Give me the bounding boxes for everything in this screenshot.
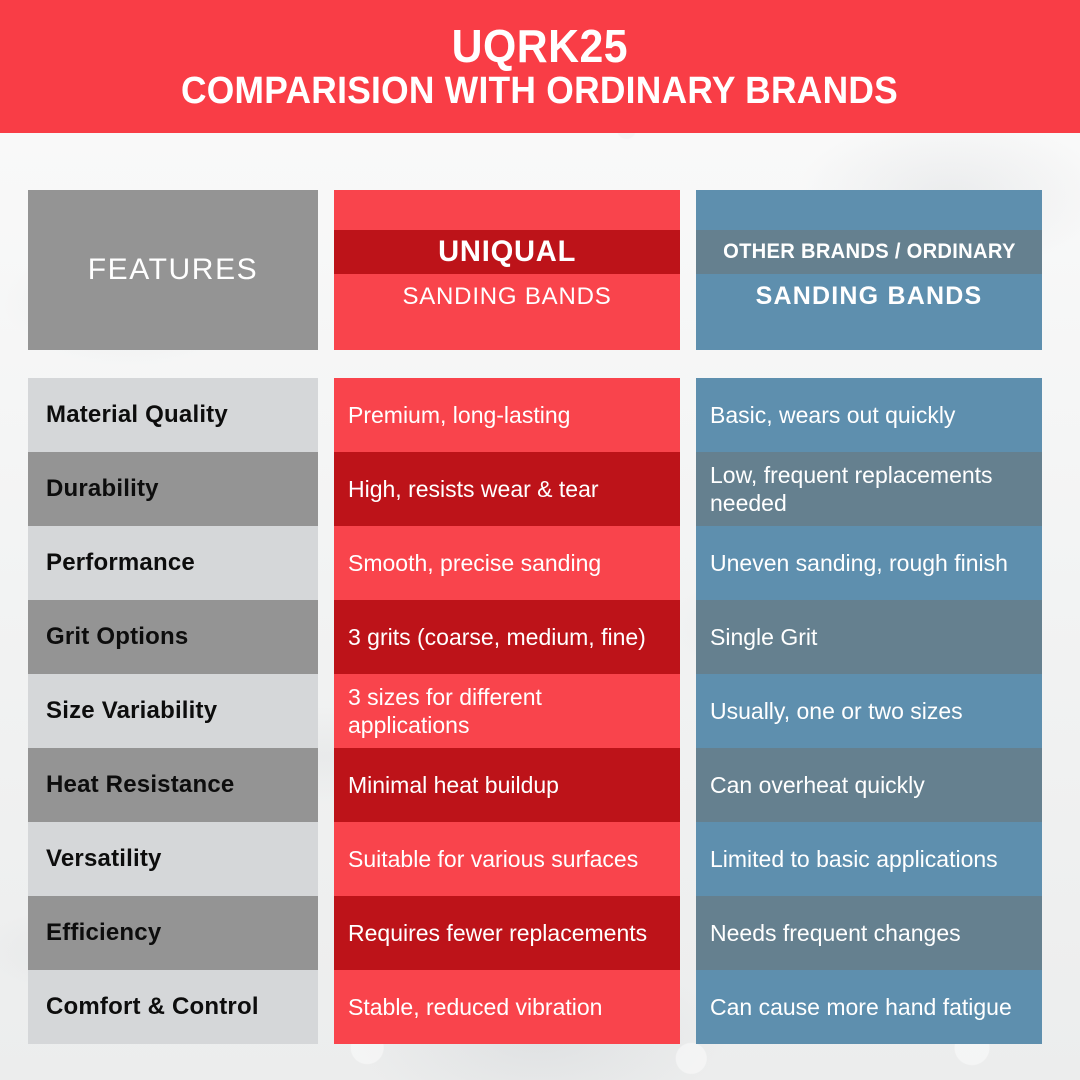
header-uniqual-column: UNIQUAL SANDING BANDS bbox=[334, 190, 680, 350]
table-row: Versatility Suitable for various surface… bbox=[28, 822, 1054, 896]
comparison-table: FEATURES UNIQUAL SANDING BANDS OTHER BRA… bbox=[0, 0, 1080, 1080]
uniqual-brand-label: UNIQUAL bbox=[438, 235, 576, 269]
feature-cell: Durability bbox=[28, 452, 318, 526]
feature-cell: Performance bbox=[28, 526, 318, 600]
uniqual-cell: Stable, reduced vibration bbox=[334, 970, 680, 1044]
other-brand-stripe: OTHER BRANDS / ORDINARY bbox=[696, 230, 1042, 274]
other-cell: Usually, one or two sizes bbox=[696, 674, 1042, 748]
table-row: Grit Options 3 grits (coarse, medium, fi… bbox=[28, 600, 1054, 674]
other-cell: Basic, wears out quickly bbox=[696, 378, 1042, 452]
header-other-column: OTHER BRANDS / ORDINARY SANDING BANDS bbox=[696, 190, 1042, 350]
other-cell: Can cause more hand fatigue bbox=[696, 970, 1042, 1044]
feature-cell: Grit Options bbox=[28, 600, 318, 674]
table-row: Performance Smooth, precise sanding Unev… bbox=[28, 526, 1054, 600]
uniqual-cell: Smooth, precise sanding bbox=[334, 526, 680, 600]
header-features-column: FEATURES bbox=[28, 190, 318, 350]
feature-cell: Material Quality bbox=[28, 378, 318, 452]
table-body: Material Quality Premium, long-lasting B… bbox=[28, 378, 1054, 1044]
table-header-row: FEATURES UNIQUAL SANDING BANDS OTHER BRA… bbox=[28, 190, 1054, 350]
other-cell: Needs frequent changes bbox=[696, 896, 1042, 970]
other-cell: Low, frequent replacements needed bbox=[696, 452, 1042, 526]
feature-cell: Comfort & Control bbox=[28, 970, 318, 1044]
other-brand-label: OTHER BRANDS / ORDINARY bbox=[723, 240, 1016, 264]
uniqual-brand-stripe: UNIQUAL bbox=[334, 230, 680, 274]
other-sub-label: SANDING BANDS bbox=[756, 282, 983, 311]
table-row: Durability High, resists wear & tear Low… bbox=[28, 452, 1054, 526]
other-cell: Limited to basic applications bbox=[696, 822, 1042, 896]
uniqual-sub-label: SANDING BANDS bbox=[402, 283, 611, 311]
table-row: Heat Resistance Minimal heat buildup Can… bbox=[28, 748, 1054, 822]
feature-cell: Versatility bbox=[28, 822, 318, 896]
other-cell: Uneven sanding, rough finish bbox=[696, 526, 1042, 600]
uniqual-cell: Suitable for various surfaces bbox=[334, 822, 680, 896]
other-cell: Single Grit bbox=[696, 600, 1042, 674]
uniqual-cell: High, resists wear & tear bbox=[334, 452, 680, 526]
uniqual-cell: 3 grits (coarse, medium, fine) bbox=[334, 600, 680, 674]
table-row: Efficiency Requires fewer replacements N… bbox=[28, 896, 1054, 970]
uniqual-cell: Minimal heat buildup bbox=[334, 748, 680, 822]
uniqual-cell: Premium, long-lasting bbox=[334, 378, 680, 452]
feature-cell: Heat Resistance bbox=[28, 748, 318, 822]
table-row: Size Variability 3 sizes for different a… bbox=[28, 674, 1054, 748]
header-features-label: FEATURES bbox=[88, 253, 259, 287]
table-row: Comfort & Control Stable, reduced vibrat… bbox=[28, 970, 1054, 1044]
feature-cell: Efficiency bbox=[28, 896, 318, 970]
other-cell: Can overheat quickly bbox=[696, 748, 1042, 822]
feature-cell: Size Variability bbox=[28, 674, 318, 748]
table-row: Material Quality Premium, long-lasting B… bbox=[28, 378, 1054, 452]
uniqual-cell: 3 sizes for different applications bbox=[334, 674, 680, 748]
uniqual-cell: Requires fewer replacements bbox=[334, 896, 680, 970]
